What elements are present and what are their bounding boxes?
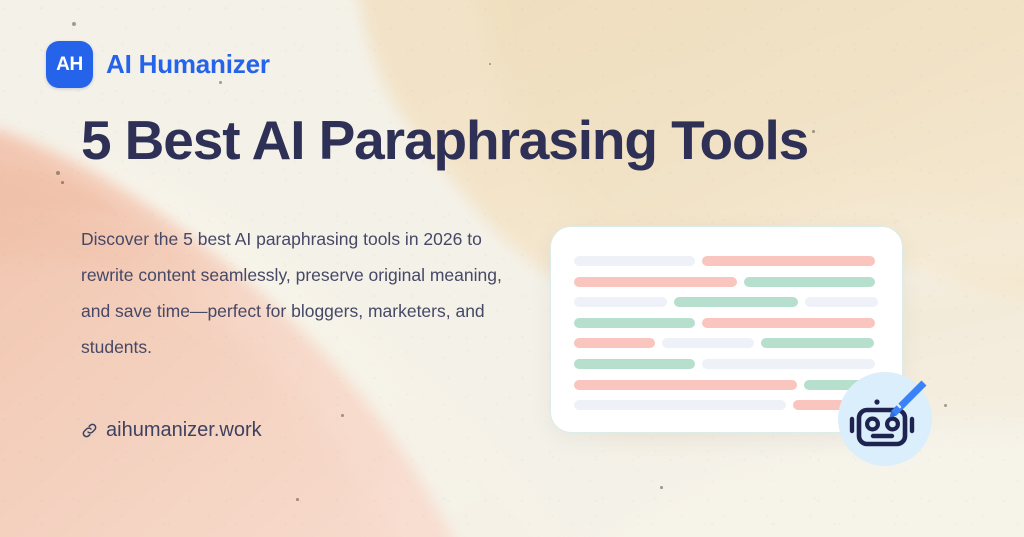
text-line-segment-pink — [574, 338, 655, 348]
text-line-segment-gray — [574, 400, 786, 410]
document-line-row — [574, 380, 879, 390]
document-line-row — [574, 338, 879, 348]
text-line-segment-green — [574, 359, 695, 369]
text-line-segment-pink — [702, 256, 875, 266]
page-title: 5 Best AI Paraphrasing Tools — [81, 112, 971, 170]
text-line-segment-green — [761, 338, 874, 348]
brand-logo[interactable]: AH AI Humanizer — [46, 41, 270, 88]
page-description: Discover the 5 best AI paraphrasing tool… — [81, 221, 533, 365]
text-line-segment-green — [574, 318, 695, 328]
text-line-segment-gray — [574, 256, 695, 266]
document-line-row — [574, 318, 879, 328]
link-chain-icon — [80, 421, 99, 440]
site-url-label: aihumanizer.work — [106, 419, 262, 442]
text-line-segment-gray — [805, 297, 878, 307]
brand-name: AI Humanizer — [106, 49, 270, 80]
site-url[interactable]: aihumanizer.work — [80, 419, 262, 442]
text-line-segment-gray — [702, 359, 875, 369]
robot-pencil-glyph — [838, 372, 932, 466]
text-line-segment-pink — [574, 277, 737, 287]
text-line-segment-gray — [662, 338, 754, 348]
document-line-row — [574, 359, 879, 369]
brand-badge-text: AH — [56, 55, 83, 74]
text-line-segment-gray — [574, 297, 667, 307]
text-line-segment-green — [674, 297, 798, 307]
robot-pencil-icon — [838, 372, 932, 466]
brand-badge-icon: AH — [46, 41, 93, 88]
text-line-segment-pink — [702, 318, 875, 328]
document-line-row — [574, 277, 879, 287]
text-line-segment-green — [744, 277, 875, 287]
document-line-row — [574, 256, 879, 266]
poster-canvas: AH AI Humanizer 5 Best AI Paraphrasing T… — [0, 0, 1024, 537]
document-line-row — [574, 297, 879, 307]
document-line-row — [574, 400, 879, 410]
text-line-segment-pink — [574, 380, 797, 390]
